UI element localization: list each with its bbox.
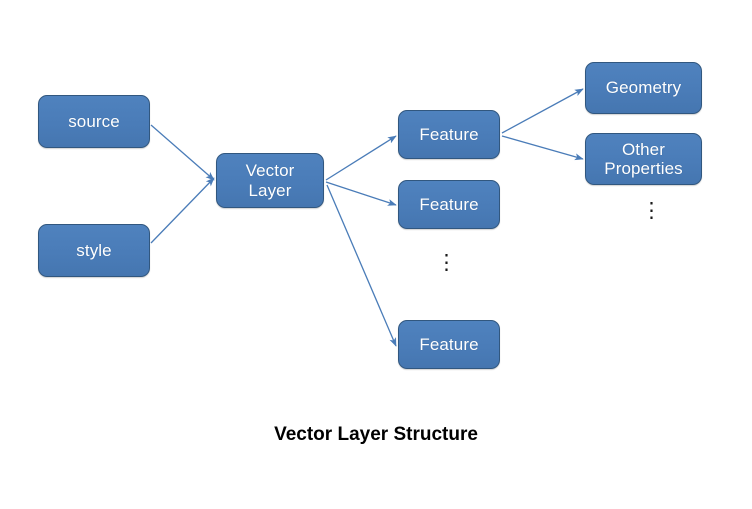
vector-layer-structure-diagram: source style Vector Layer Feature Featur…: [0, 0, 752, 509]
node-feature-2[interactable]: Feature: [398, 180, 500, 229]
diagram-caption: Vector Layer Structure: [0, 424, 752, 446]
edge-style-to-vector-layer: [151, 178, 214, 243]
node-other-properties[interactable]: Other Properties: [585, 133, 702, 185]
node-source-label: source: [64, 112, 124, 131]
node-vector-layer-label: Vector Layer: [238, 161, 303, 199]
node-feature-1[interactable]: Feature: [398, 110, 500, 159]
node-geometry-label: Geometry: [602, 78, 685, 97]
edge-vector-layer-to-feature-3: [327, 185, 396, 346]
node-feature-3-label: Feature: [415, 335, 482, 354]
edge-feature-1-to-other-properties: [502, 136, 583, 159]
ellipsis-features: ⋮: [436, 252, 450, 273]
node-source[interactable]: source: [38, 95, 150, 148]
ellipsis-properties: ⋮: [641, 200, 655, 221]
node-feature-2-label: Feature: [415, 195, 482, 214]
edge-vector-layer-to-feature-1: [326, 136, 396, 180]
node-style-label: style: [72, 241, 115, 260]
node-vector-layer-label-line1: Vector: [242, 161, 299, 180]
node-other-properties-label: Other Properties: [596, 140, 690, 178]
node-vector-layer-label-line2: Layer: [242, 181, 299, 200]
node-geometry[interactable]: Geometry: [585, 62, 702, 114]
edge-vector-layer-to-feature-2: [326, 182, 396, 205]
edge-source-to-vector-layer: [151, 125, 214, 180]
node-style[interactable]: style: [38, 224, 150, 277]
node-other-properties-label-line2: Properties: [600, 159, 686, 178]
node-feature-1-label: Feature: [415, 125, 482, 144]
node-vector-layer[interactable]: Vector Layer: [216, 153, 324, 208]
node-feature-3[interactable]: Feature: [398, 320, 500, 369]
edge-feature-1-to-geometry: [502, 89, 583, 133]
node-other-properties-label-line1: Other: [600, 140, 686, 159]
